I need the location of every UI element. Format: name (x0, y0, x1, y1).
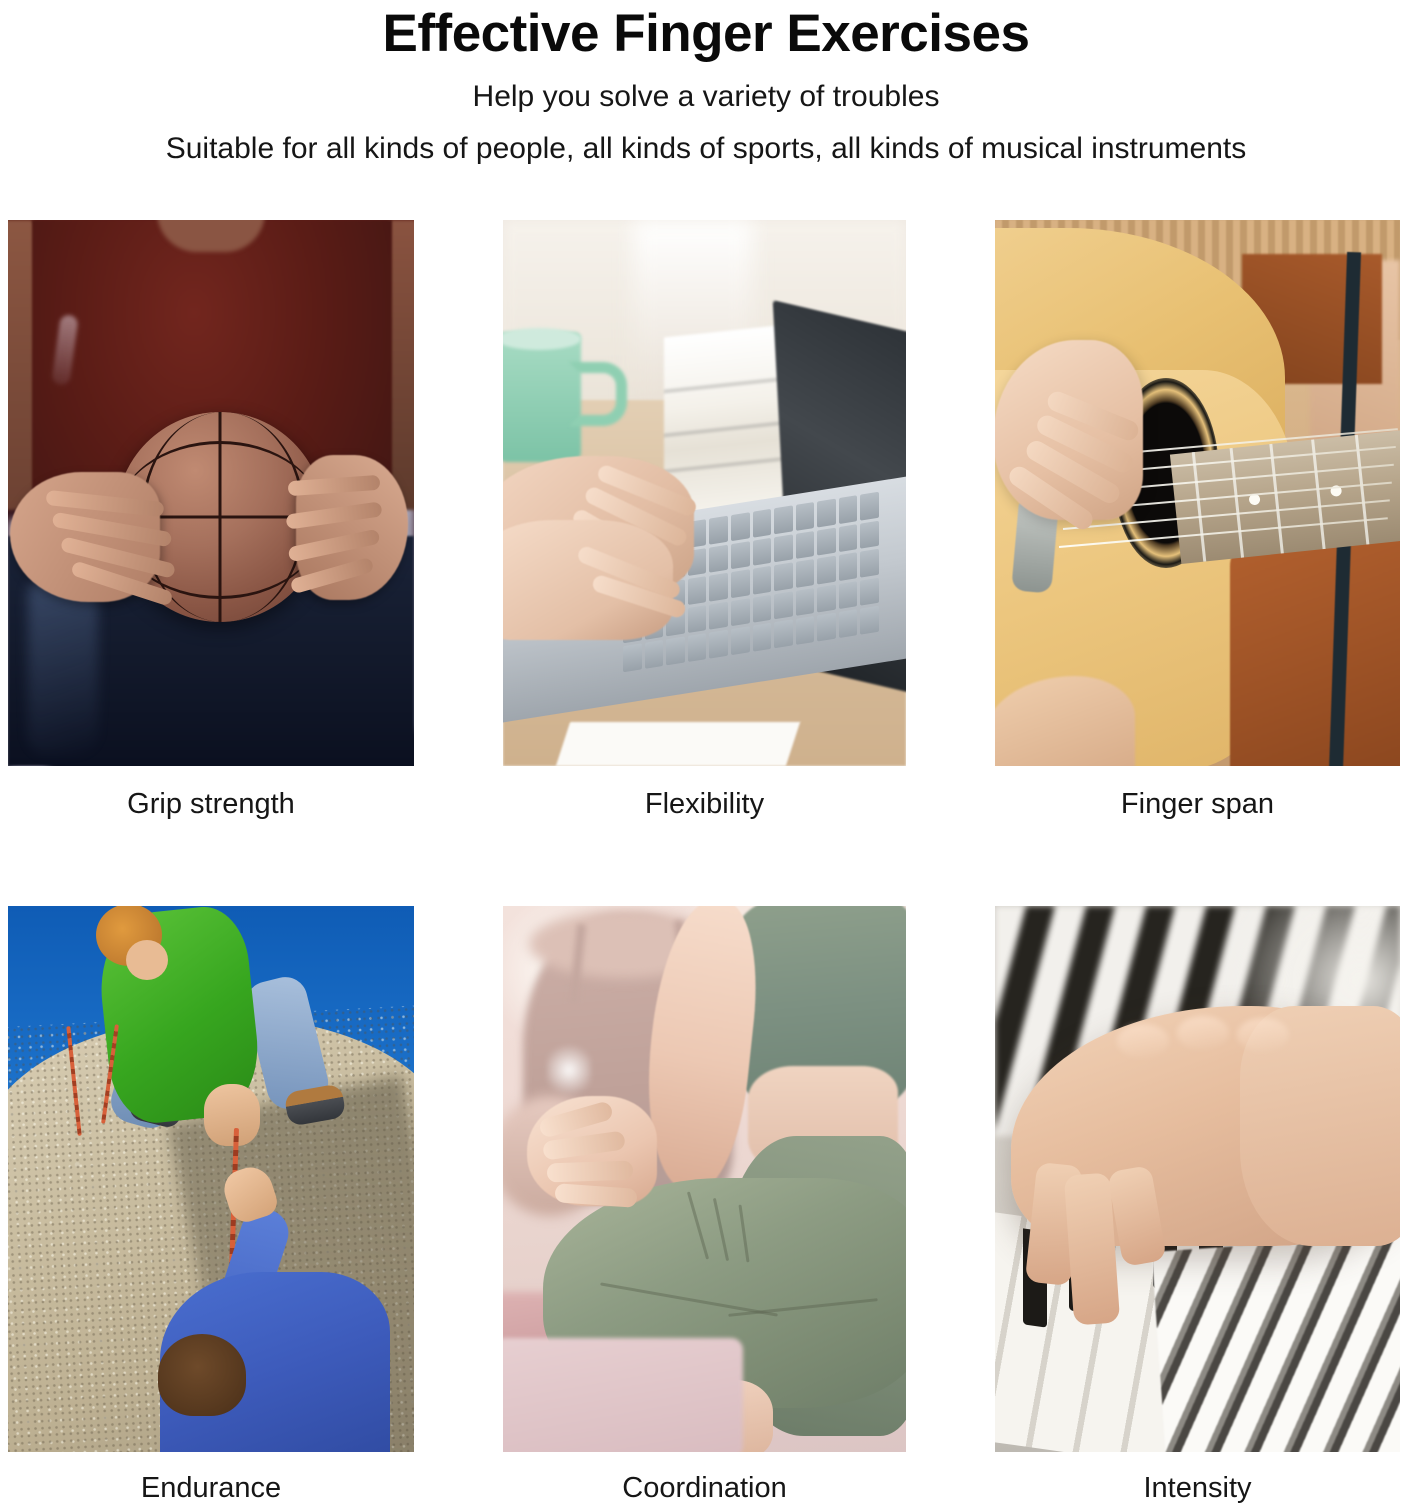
acoustic-guitar-photo (995, 220, 1400, 766)
gallery-item: Flexibility (503, 220, 906, 824)
page-title: Effective Finger Exercises (0, 3, 1412, 65)
product-feature-page: Effective Finger Exercises Help you solv… (0, 0, 1412, 1444)
gallery-item: Grip strength (8, 220, 414, 824)
piano-playing-photo (995, 906, 1400, 1452)
header: Effective Finger Exercises Help you solv… (0, 0, 1412, 171)
gallery-item-caption: Flexibility (503, 766, 906, 824)
laptop-typing-photo (503, 220, 906, 766)
basketball-grip-photo (8, 220, 414, 766)
gallery-item: Intensity (995, 906, 1400, 1508)
gallery-item-caption: Grip strength (8, 766, 414, 824)
gallery-item-caption: Intensity (995, 1452, 1400, 1508)
yoga-meditation-photo (503, 906, 906, 1452)
gallery-item-caption: Endurance (8, 1452, 414, 1508)
page-subtitle-secondary: Suitable for all kinds of people, all ki… (0, 127, 1412, 171)
gallery-item: Endurance (8, 906, 414, 1508)
gallery-item-caption: Finger span (995, 766, 1400, 824)
feature-gallery-grid: Grip strength (8, 220, 1404, 1508)
gallery-item: Coordination (503, 906, 906, 1508)
page-subtitle-primary: Help you solve a variety of troubles (0, 75, 1412, 119)
gallery-item: Finger span (995, 220, 1400, 824)
gallery-item-caption: Coordination (503, 1452, 906, 1508)
rock-climbing-photo (8, 906, 414, 1452)
